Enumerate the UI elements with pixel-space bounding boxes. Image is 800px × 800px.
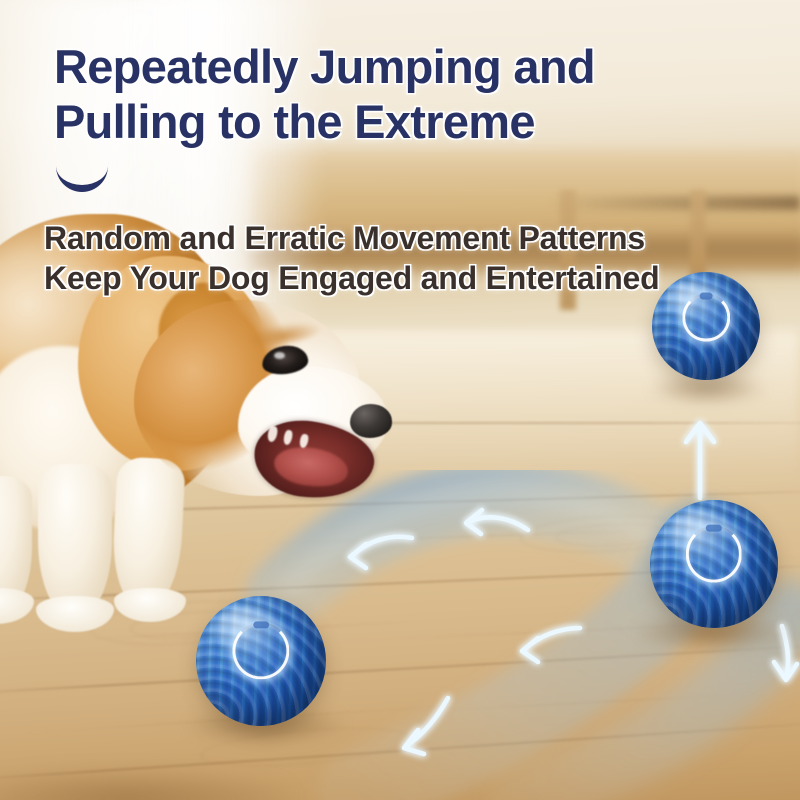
- dog-paw: [0, 588, 34, 624]
- floor-grain: [420, 693, 760, 712]
- dog-shadow: [0, 770, 290, 800]
- smart-ball-mid-right[interactable]: [650, 500, 778, 628]
- page-title: Repeatedly Jumping and Pulling to the Ex…: [54, 40, 714, 150]
- dog-paw: [114, 588, 186, 622]
- page-subtitle: Random and Erratic Movement Patterns Kee…: [44, 218, 684, 299]
- dog-eye-highlight: [274, 352, 285, 359]
- product-banner: Repeatedly Jumping and Pulling to the Ex…: [0, 0, 800, 800]
- floor-plank-line: [0, 642, 800, 696]
- dog-nose: [350, 404, 392, 438]
- background-furniture-edge: [550, 196, 800, 210]
- power-ring-led-icon: [232, 622, 289, 679]
- dog-leg: [38, 464, 112, 616]
- dog-leg: [110, 456, 186, 609]
- power-ring-led-icon: [682, 294, 730, 342]
